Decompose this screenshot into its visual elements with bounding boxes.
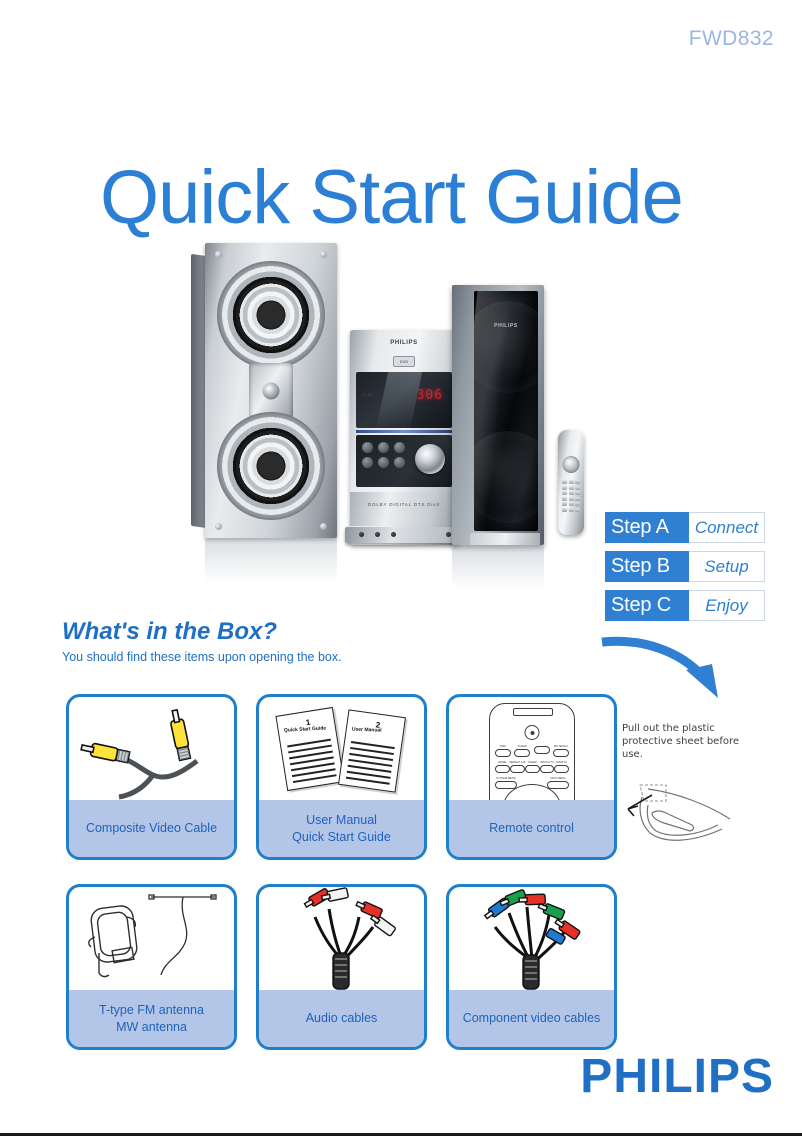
speaker-reflection bbox=[205, 538, 337, 582]
remote-button-label: SYSTEM MENU bbox=[495, 777, 517, 780]
photo-remote-key bbox=[575, 480, 580, 484]
remote-button-mode: MODE bbox=[495, 761, 510, 773]
remote-power-button bbox=[525, 725, 540, 740]
photo-remote-key bbox=[562, 497, 567, 501]
philips-logo: PHILIPS bbox=[580, 1049, 774, 1104]
step-badge-a[interactable]: Step A Connect bbox=[605, 512, 765, 543]
photo-remote-key bbox=[575, 497, 580, 501]
step-b-label: Step B bbox=[605, 551, 689, 582]
remote-control-icon: DISC TUNER MUTE/AUX MODE REPEAT A-B SLEE… bbox=[449, 697, 614, 800]
remote-button-label: MODE bbox=[495, 761, 510, 764]
right-speaker-cone bbox=[474, 431, 538, 523]
step-a-action: Connect bbox=[689, 512, 765, 543]
remote-button-label: TUNER bbox=[514, 745, 530, 748]
remote-button-label: DISC MENU bbox=[547, 777, 569, 780]
step-c-label: Step C bbox=[605, 590, 689, 621]
remote-button-display: DISPLAY bbox=[554, 761, 569, 773]
remote-button-label: MUTE/AUX bbox=[553, 745, 569, 748]
caption-line-2: Quick Start Guide bbox=[292, 829, 391, 846]
photo-remote-key bbox=[562, 486, 567, 490]
protective-sheet-svg bbox=[618, 775, 738, 845]
right-speaker-glass-front: PHILIPS bbox=[474, 291, 538, 531]
sheet-title: User Manual bbox=[352, 727, 382, 734]
main-unit-body: PHILIPS DVD DISC 306 DOLBY DIGITAL DTS bbox=[350, 330, 458, 545]
box-section-subheading: You should find these items upon opening… bbox=[62, 650, 342, 664]
display-value: 306 bbox=[417, 388, 443, 403]
remote-button-watch-tv: WATCH TV bbox=[540, 761, 555, 773]
remote-button-tuner: TUNER bbox=[514, 745, 530, 757]
box-item-caption: Component video cables bbox=[449, 990, 614, 1047]
box-item-caption: Remote control bbox=[449, 800, 614, 857]
volume-knob bbox=[415, 444, 445, 474]
model-number: FWD832 bbox=[689, 27, 774, 51]
photo-remote-key bbox=[562, 480, 567, 484]
remote-button-repeat: REPEAT A-B bbox=[510, 761, 526, 773]
product-photo: PHILIPS DVD DISC 306 DOLBY DIGITAL DTS bbox=[180, 235, 610, 555]
remote-button-row-2: MODE REPEAT A-B SLEEP WATCH TV DISPLAY bbox=[495, 761, 569, 773]
manuals-icon: 1 Quick Start Guide 2 User Manual bbox=[259, 697, 424, 800]
step-c-action: Enjoy bbox=[689, 590, 765, 621]
composite-video-cable-icon bbox=[69, 697, 234, 800]
unit-brand-label: PHILIPS bbox=[350, 340, 458, 346]
speaker-cabinet bbox=[205, 243, 337, 538]
unit-accent-strip bbox=[356, 430, 452, 433]
photo-remote-key bbox=[562, 508, 567, 512]
photo-remote-key bbox=[569, 497, 574, 501]
remote-button-blank bbox=[534, 745, 550, 757]
step-a-label: Step A bbox=[605, 512, 689, 543]
speaker-screw bbox=[320, 523, 327, 530]
speaker-screw bbox=[215, 523, 222, 530]
protective-sheet-illustration bbox=[618, 775, 738, 845]
unit-display: DISC 306 bbox=[356, 372, 452, 428]
speaker-screw bbox=[215, 251, 222, 258]
page-title: Quick Start Guide bbox=[100, 160, 683, 236]
caption-line-1: Remote control bbox=[489, 820, 574, 837]
unit-base bbox=[345, 527, 463, 543]
antenna-svg bbox=[69, 887, 234, 990]
unit-button bbox=[362, 457, 373, 468]
caption-line-1: Composite Video Cable bbox=[86, 820, 217, 837]
unit-disc-logo: DVD bbox=[393, 356, 415, 367]
main-unit-image: PHILIPS DVD DISC 306 DOLBY DIGITAL DTS bbox=[350, 330, 458, 545]
photo-remote-key bbox=[569, 508, 574, 512]
base-jack bbox=[375, 532, 380, 537]
remote-button-label: REPEAT A-B bbox=[510, 761, 526, 764]
remote-button-mute-aux: MUTE/AUX bbox=[553, 745, 569, 757]
unit-button bbox=[378, 457, 389, 468]
box-item-component-video-cables: Component video cables bbox=[446, 884, 617, 1050]
step-badge-c[interactable]: Step C Enjoy bbox=[605, 590, 765, 621]
audio-cables-icon bbox=[259, 887, 424, 990]
unit-button bbox=[378, 442, 389, 453]
component-video-cables-icon bbox=[449, 887, 614, 990]
photo-remote-key bbox=[569, 502, 574, 506]
photo-remote-shell bbox=[558, 430, 584, 535]
right-speaker-reflection bbox=[452, 545, 544, 589]
quick-start-guide-page: FWD832 Quick Start Guide PHILIPS DVD bbox=[0, 0, 802, 1136]
tweeter-driver bbox=[249, 363, 293, 419]
box-item-caption: User Manual Quick Start Guide bbox=[259, 800, 424, 857]
base-jack bbox=[446, 532, 451, 537]
unit-button bbox=[362, 442, 373, 453]
photo-remote-key bbox=[575, 502, 580, 506]
composite-cable-svg bbox=[69, 697, 234, 800]
photo-remote-key bbox=[562, 502, 567, 506]
caption-line-2: MW antenna bbox=[116, 1019, 187, 1036]
callout-arrow-icon bbox=[600, 636, 750, 706]
box-item-antennas: T-type FM antenna MW antenna bbox=[66, 884, 237, 1050]
remote-button-system-menu: SYSTEM MENU bbox=[495, 777, 517, 789]
unit-button bbox=[394, 457, 405, 468]
remote-button-sleep: SLEEP bbox=[525, 761, 540, 773]
photo-remote-key bbox=[562, 491, 567, 495]
remote-button-disc-menu: DISC MENU bbox=[547, 777, 569, 789]
step-badges: Step A Connect Step B Setup Step C Enjoy bbox=[605, 512, 765, 629]
remote-button-row-1: DISC TUNER MUTE/AUX bbox=[495, 745, 569, 757]
photo-remote-key bbox=[575, 508, 580, 512]
caption-line-1: T-type FM antenna bbox=[99, 1002, 204, 1019]
right-speaker-cone bbox=[474, 301, 538, 393]
base-jack bbox=[391, 532, 396, 537]
base-jack bbox=[359, 532, 364, 537]
photo-remote-navpad bbox=[563, 456, 580, 473]
remote-illustration: DISC TUNER MUTE/AUX MODE REPEAT A-B SLEE… bbox=[489, 703, 575, 803]
box-section-heading: What's in the Box? bbox=[62, 618, 277, 646]
right-speaker-foot bbox=[470, 533, 540, 545]
quick-start-guide-sheet: 1 Quick Start Guide bbox=[275, 707, 344, 791]
box-item-manuals: 1 Quick Start Guide 2 User Manual User M… bbox=[256, 694, 427, 860]
sheet-lines bbox=[287, 739, 337, 787]
remote-button-label: SLEEP bbox=[525, 761, 540, 764]
photo-remote-key bbox=[569, 491, 574, 495]
display-mode-text: DISC bbox=[363, 392, 374, 397]
unit-button bbox=[394, 442, 405, 453]
step-b-action: Setup bbox=[689, 551, 765, 582]
box-item-caption: Composite Video Cable bbox=[69, 800, 234, 857]
step-badge-b[interactable]: Step B Setup bbox=[605, 551, 765, 582]
photo-remote-control bbox=[558, 430, 584, 535]
woofer-driver bbox=[217, 412, 325, 520]
unit-button-grid bbox=[362, 442, 406, 468]
remote-button-label: WATCH TV bbox=[540, 761, 555, 764]
photo-remote-key bbox=[575, 486, 580, 490]
woofer-driver bbox=[217, 261, 325, 369]
remote-button-label: DISPLAY bbox=[554, 761, 569, 764]
unit-lower-face bbox=[350, 492, 458, 526]
remote-lcd bbox=[513, 708, 553, 716]
caption-line-1: Component video cables bbox=[463, 1010, 601, 1027]
right-speaker-brand-label: PHILIPS bbox=[474, 323, 538, 329]
antenna-icon bbox=[69, 887, 234, 990]
photo-remote-keypad bbox=[562, 480, 580, 512]
sheet-title: Quick Start Guide bbox=[284, 725, 326, 733]
box-item-composite-video-cable: Composite Video Cable bbox=[66, 694, 237, 860]
unit-control-panel bbox=[356, 435, 452, 487]
remote-button-disc: DISC bbox=[495, 745, 511, 757]
user-manual-sheet: 2 User Manual bbox=[338, 709, 406, 792]
speaker-screw bbox=[320, 251, 327, 258]
photo-remote-key bbox=[569, 480, 574, 484]
caption-line-1: User Manual bbox=[306, 812, 377, 829]
left-speaker-image bbox=[205, 243, 337, 538]
box-item-caption: Audio cables bbox=[259, 990, 424, 1047]
right-speaker-image: PHILIPS bbox=[452, 285, 544, 545]
audio-cables-svg bbox=[259, 887, 424, 990]
box-item-audio-cables: Audio cables bbox=[256, 884, 427, 1050]
sheet-lines bbox=[345, 741, 394, 789]
box-item-remote-control: DISC TUNER MUTE/AUX MODE REPEAT A-B SLEE… bbox=[446, 694, 617, 860]
box-item-caption: T-type FM antenna MW antenna bbox=[69, 990, 234, 1047]
component-cables-svg bbox=[449, 887, 614, 990]
right-speaker-cabinet: PHILIPS bbox=[452, 285, 544, 545]
caption-line-1: Audio cables bbox=[306, 1010, 378, 1027]
protective-sheet-note: Pull out the plastic protective sheet be… bbox=[622, 722, 742, 761]
photo-remote-key bbox=[569, 486, 574, 490]
remote-button-label: DISC bbox=[495, 745, 511, 748]
photo-remote-key bbox=[575, 491, 580, 495]
unit-format-logos: DOLBY DIGITAL DTS DivX bbox=[350, 502, 458, 507]
